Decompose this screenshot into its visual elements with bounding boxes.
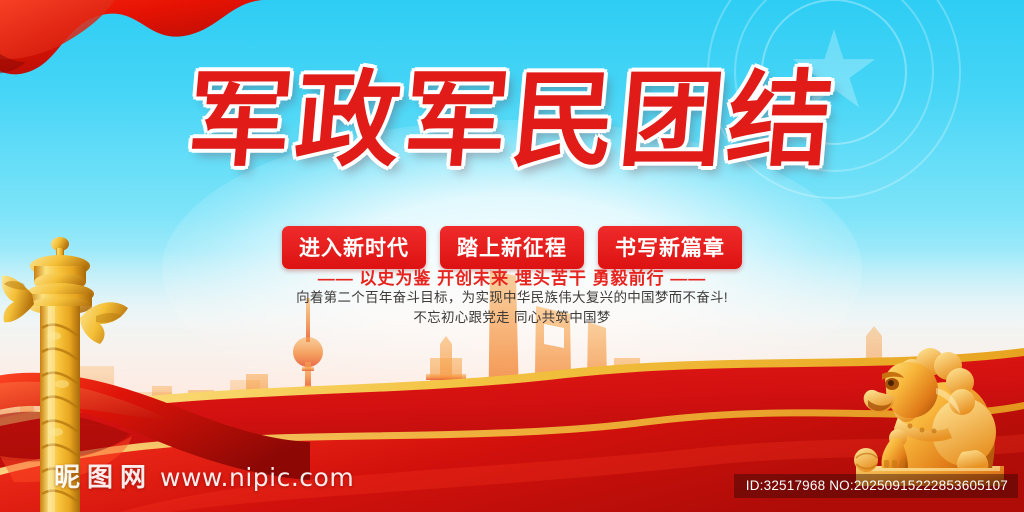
poster-title: 军政军民团结 (0, 66, 1024, 175)
subtext-line-1: 向着第二个百年奋斗目标，为实现中华民族伟大复兴的中国梦而不奋斗! (0, 288, 1024, 308)
slogan-pill-1[interactable]: 进入新时代 (282, 226, 426, 269)
subtext-line-2: 不忘初心跟党走 同心共筑中国梦 (0, 308, 1024, 328)
slogan-pill-2[interactable]: 踏上新征程 (440, 226, 584, 269)
watermark-brand: 昵图网 (54, 457, 153, 494)
slogan-pill-3[interactable]: 书写新篇章 (598, 226, 742, 269)
poster-canvas: 军政军民团结 进入新时代 踏上新征程 书写新篇章 —— 以史为鉴 开创未来 埋头… (0, 0, 1024, 512)
subtext-block: 向着第二个百年奋斗目标，为实现中华民族伟大复兴的中国梦而不奋斗! 不忘初心跟党走… (0, 288, 1024, 328)
watermark-url: www.nipic.com (160, 463, 354, 492)
id-badge: ID:32517968 NO:20250915222853605107 (734, 474, 1018, 498)
site-watermark: 昵图网 www.nipic.com (54, 457, 354, 494)
slogan-line: —— 以史为鉴 开创未来 埋头苦干 勇毅前行 —— (0, 264, 1024, 289)
golden-guardian-lion (836, 326, 1016, 486)
slogan-pill-group: 进入新时代 踏上新征程 书写新篇章 (0, 226, 1024, 269)
